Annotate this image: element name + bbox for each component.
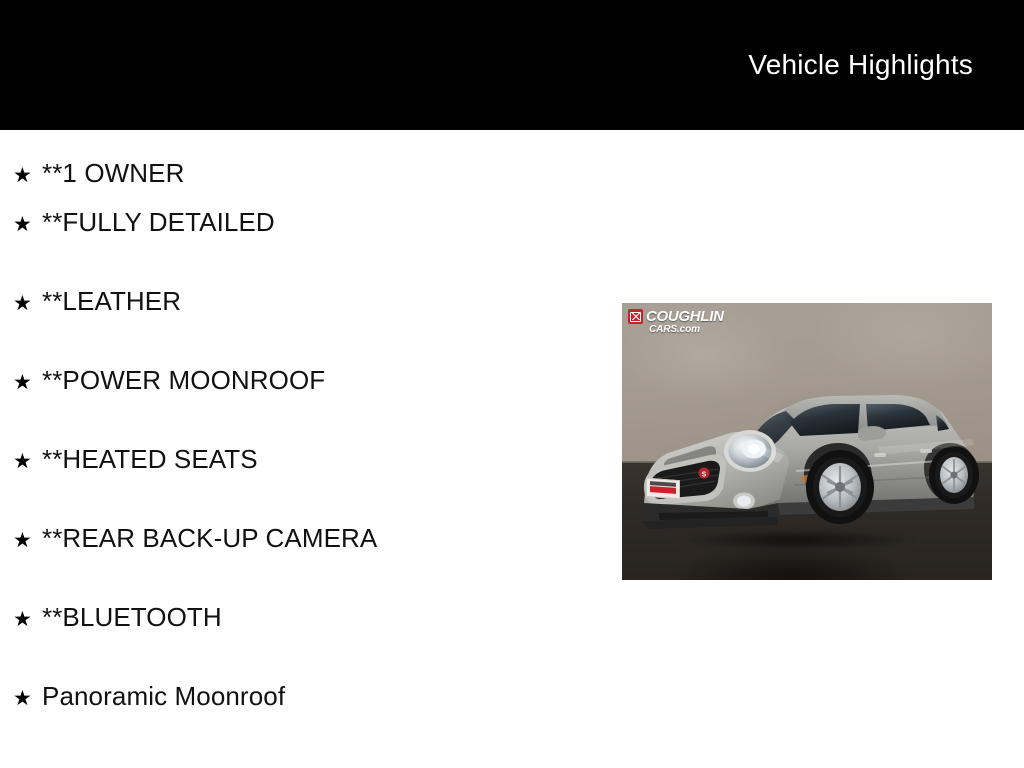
list-item: ★ **REAR BACK-UP CAMERA [0, 525, 620, 604]
plate-red-band [650, 486, 676, 494]
list-item: ★ **HEATED SEATS [0, 446, 620, 525]
vehicle-highlights-list: ★ **1 OWNER ★ **FULLY DETAILED ★ **LEATH… [0, 130, 620, 762]
watermark-brand-row: COUGHLIN [628, 309, 724, 324]
highlight-label: **REAR BACK-UP CAMERA [42, 525, 377, 551]
coughlin-cars-watermark: COUGHLIN CARS.com [628, 309, 724, 335]
highlight-label: **HEATED SEATS [42, 446, 258, 472]
star-icon: ★ [13, 293, 42, 314]
page-title: Vehicle Highlights [748, 51, 1024, 79]
highlight-label: Panoramic Moonroof [42, 683, 285, 709]
highlight-label: **1 OWNER [42, 160, 184, 186]
star-icon: ★ [13, 451, 42, 472]
star-icon: ★ [13, 688, 42, 709]
dealer-license-plate [646, 478, 680, 499]
watermark-sub-text: CARS [649, 324, 677, 335]
header-bar: Vehicle Highlights [0, 0, 1024, 130]
svg-text:S: S [702, 472, 707, 479]
watermark-sub-row: CARS.com [628, 325, 700, 335]
star-icon: ★ [13, 609, 42, 630]
list-item: ★ **FULLY DETAILED [0, 209, 620, 288]
star-icon: ★ [13, 530, 42, 551]
star-icon: ★ [13, 372, 42, 393]
watermark-domain-text: .com [677, 324, 700, 335]
highlight-label: **POWER MOONROOF [42, 367, 325, 393]
watermark-brand-text: COUGHLIN [646, 309, 724, 324]
list-item: ★ Panoramic Moonroof [0, 683, 620, 762]
list-item: ★ **LEATHER [0, 288, 620, 367]
highlight-label: **FULLY DETAILED [42, 209, 275, 235]
coughlin-logo-icon [628, 309, 643, 324]
list-item: ★ **BLUETOOTH [0, 604, 620, 683]
star-icon: ★ [13, 214, 42, 235]
highlight-label: **LEATHER [42, 288, 181, 314]
vehicle-highlights-page: Vehicle Highlights ★ **1 OWNER ★ **FULLY… [0, 0, 1024, 768]
vehicle-photo[interactable]: S [622, 303, 992, 580]
car-illustration: S [628, 363, 986, 548]
list-item: ★ **POWER MOONROOF [0, 367, 620, 446]
star-icon: ★ [13, 165, 42, 186]
highlight-label: **BLUETOOTH [42, 604, 222, 630]
list-item: ★ **1 OWNER [0, 130, 620, 209]
